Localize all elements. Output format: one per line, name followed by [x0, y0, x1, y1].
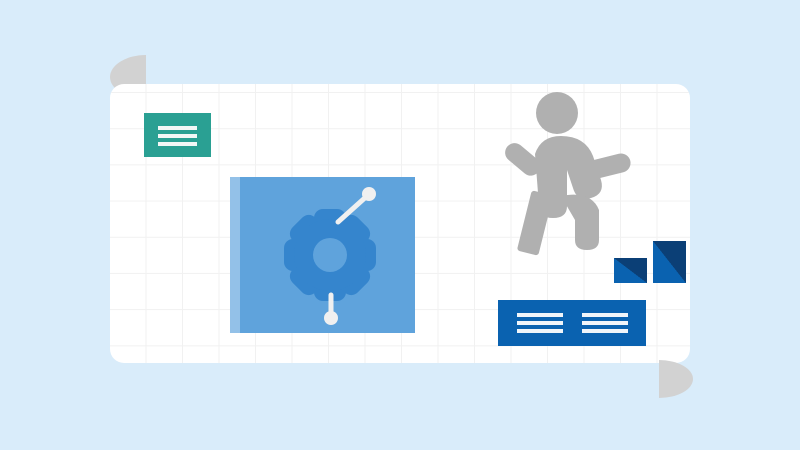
- summary-card-lines-left: [517, 313, 563, 333]
- bar-1-shade: [614, 258, 647, 283]
- menu-badge-line: [158, 134, 197, 138]
- gear-icon: [230, 177, 415, 333]
- bar-2: [653, 241, 686, 283]
- bar-chart: [614, 198, 690, 283]
- summary-card-line: [517, 321, 563, 325]
- pin-upper-right-icon: [338, 187, 376, 222]
- menu-badge-line: [158, 142, 197, 146]
- summary-card-line: [517, 329, 563, 333]
- settings-panel[interactable]: [230, 177, 415, 333]
- menu-badge[interactable]: [144, 113, 211, 157]
- summary-card-lines-right: [582, 313, 628, 333]
- menu-badge-lines: [158, 126, 197, 146]
- summary-card-line: [582, 329, 628, 333]
- bar-2-shade: [653, 241, 686, 283]
- growth-illustration: [495, 88, 675, 288]
- menu-badge-line: [158, 126, 197, 130]
- illustration-stage: [0, 0, 800, 450]
- bar-1: [614, 258, 647, 283]
- summary-card-line: [517, 313, 563, 317]
- bottom-right-half-circle-icon: [659, 360, 693, 398]
- dashboard-card: [110, 84, 690, 363]
- summary-card-line: [582, 313, 628, 317]
- summary-card[interactable]: [498, 300, 646, 346]
- summary-card-line: [582, 321, 628, 325]
